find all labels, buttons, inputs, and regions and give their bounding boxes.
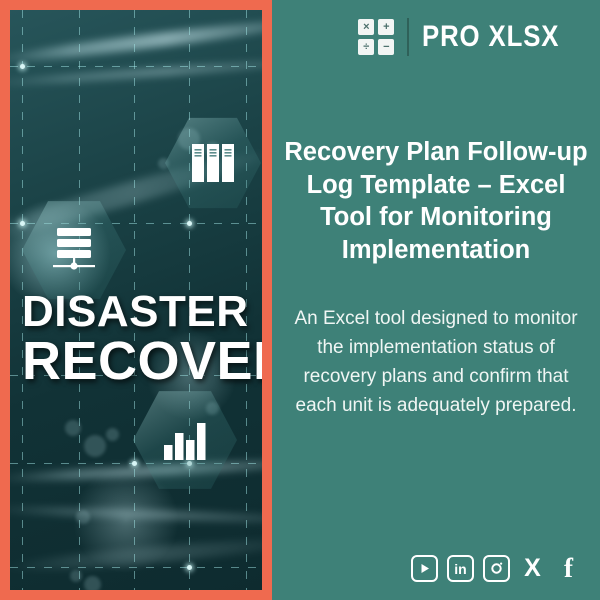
disaster-recovery-wordmark: DISASTER RECOVERY xyxy=(22,290,262,388)
x-twitter-icon[interactable]: X xyxy=(519,555,546,582)
page-description: An Excel tool designed to monitor the im… xyxy=(290,305,582,421)
key-divide: ÷ xyxy=(358,39,374,55)
tech-background-image: DISASTER RECOVERY xyxy=(10,10,262,590)
youtube-icon[interactable] xyxy=(411,555,438,582)
bokeh-dot xyxy=(84,576,101,590)
grid-line xyxy=(10,567,262,568)
light-streak xyxy=(10,504,262,525)
key-minus: − xyxy=(378,39,394,55)
bokeh-dot xyxy=(106,428,119,441)
database-network-icon xyxy=(49,226,99,274)
brand-divider xyxy=(407,18,409,56)
x-label: X xyxy=(524,556,541,581)
grid-line xyxy=(10,66,262,67)
facebook-icon[interactable]: f xyxy=(555,555,582,582)
grid-node xyxy=(20,64,25,69)
instagram-icon[interactable] xyxy=(483,555,510,582)
server-racks-icon xyxy=(191,142,235,184)
bar-chart-icon xyxy=(163,420,207,460)
grid-node xyxy=(20,221,25,226)
promo-card: DISASTER RECOVERY × + ÷ − PRO XLSX Recov… xyxy=(0,0,600,600)
light-streak xyxy=(10,534,262,576)
grid-node xyxy=(187,221,192,226)
linkedin-icon[interactable]: in xyxy=(447,555,474,582)
wordmark-line-1: DISASTER xyxy=(22,290,262,333)
brand-logo[interactable]: × + ÷ − PRO XLSX xyxy=(358,18,582,56)
light-streak xyxy=(10,56,262,89)
hex-badge-bar-chart xyxy=(133,388,237,492)
bokeh-dot xyxy=(70,570,82,582)
calculator-keypad-icon: × + ÷ − xyxy=(358,19,394,55)
wordmark-line-2: RECOVERY xyxy=(22,335,262,388)
page-title: Recovery Plan Follow-up Log Template – E… xyxy=(282,136,590,267)
brand-name: PRO XLSX xyxy=(422,20,559,54)
content-panel: × + ÷ − PRO XLSX Recovery Plan Follow-up… xyxy=(272,0,600,600)
image-panel: DISASTER RECOVERY xyxy=(0,0,272,600)
key-plus: + xyxy=(378,19,394,35)
light-streak xyxy=(10,15,262,68)
key-multiply: × xyxy=(358,19,374,35)
social-links: in X f xyxy=(411,555,582,582)
grid-node xyxy=(187,565,192,570)
facebook-label: f xyxy=(564,555,573,582)
linkedin-label: in xyxy=(454,562,466,576)
grid-node xyxy=(132,461,137,466)
bokeh-dot xyxy=(84,435,106,457)
